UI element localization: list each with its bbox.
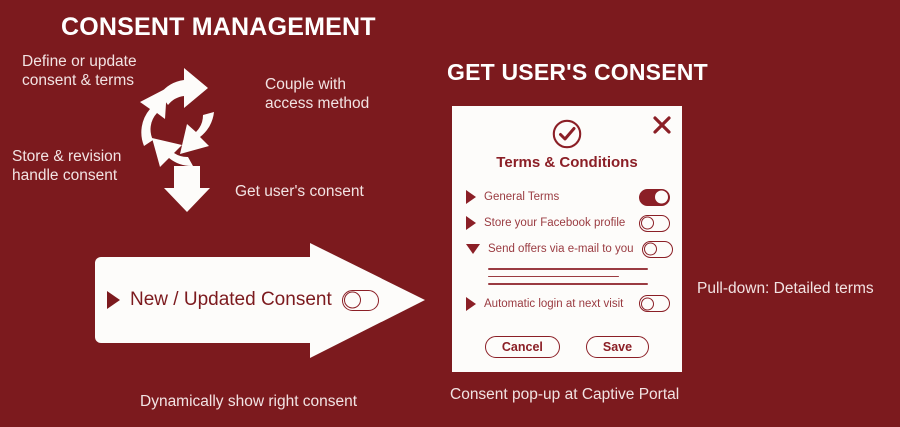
caption-consent-popup-captive-portal: Consent pop-up at Captive Portal — [450, 385, 679, 404]
toggle-knob — [644, 243, 657, 256]
close-icon[interactable] — [653, 116, 671, 134]
terms-item-label: Store your Facebook profile — [484, 217, 631, 229]
triangle-down-icon[interactable] — [466, 244, 480, 254]
terms-item-automatic-login[interactable]: Automatic login at next visit — [466, 291, 670, 317]
triangle-right-icon[interactable] — [466, 190, 476, 204]
annotation-pulldown-detailed-terms: Pull-down: Detailed terms — [697, 279, 874, 298]
terms-item-label: Automatic login at next visit — [484, 298, 631, 310]
close-glyph — [653, 116, 671, 134]
page-title-consent-management: CONSENT MANAGEMENT — [61, 13, 376, 42]
banner-content: New / Updated Consent — [95, 257, 395, 343]
triangle-right-icon[interactable] — [466, 216, 476, 230]
terms-item-toggle[interactable] — [639, 189, 670, 206]
terms-item-label: General Terms — [484, 191, 631, 203]
check-circle-glyph — [551, 118, 583, 150]
new-updated-consent-banner[interactable]: New / Updated Consent — [95, 243, 425, 358]
cycle-label-store: Store & revision handle consent — [12, 147, 121, 185]
banner-consent-toggle[interactable] — [342, 290, 379, 311]
banner-label: New / Updated Consent — [130, 289, 332, 311]
check-circle-icon — [551, 118, 583, 150]
detailed-terms-placeholder-lines — [488, 268, 670, 285]
terms-item-store-facebook-profile[interactable]: Store your Facebook profile — [466, 210, 670, 236]
placeholder-line — [488, 283, 648, 285]
terms-item-send-offers-email[interactable]: Send offers via e-mail to you — [466, 236, 670, 262]
save-button[interactable]: Save — [586, 336, 649, 358]
cycle-label-couple: Couple with access method — [265, 75, 369, 113]
terms-item-general-terms[interactable]: General Terms — [466, 184, 670, 210]
dialog-actions: Cancel Save — [452, 336, 682, 358]
placeholder-line — [488, 276, 619, 278]
toggle-knob — [641, 297, 654, 310]
caption-dynamically-show-right-consent: Dynamically show right consent — [140, 392, 357, 411]
cycle-arrows-icon — [130, 62, 240, 212]
placeholder-line — [488, 268, 648, 270]
cancel-button[interactable]: Cancel — [485, 336, 560, 358]
page-title-get-user-consent: GET USER'S CONSENT — [447, 59, 708, 86]
toggle-knob — [655, 191, 668, 204]
consent-popup-dialog: Terms & Conditions General Terms Store y… — [452, 106, 682, 372]
dialog-title: Terms & Conditions — [452, 154, 682, 171]
cycle-label-get-user-consent: Get user's consent — [235, 182, 364, 201]
terms-item-toggle[interactable] — [642, 241, 673, 258]
terms-list: General Terms Store your Facebook profil… — [466, 184, 670, 317]
toggle-knob — [344, 292, 361, 309]
terms-item-toggle[interactable] — [639, 215, 670, 232]
terms-item-label: Send offers via e-mail to you — [488, 243, 634, 255]
triangle-right-icon[interactable] — [466, 297, 476, 311]
infographic-stage: CONSENT MANAGEMENT GET USER'S CONSENT De… — [0, 0, 900, 427]
cycle-label-define: Define or update consent & terms — [22, 52, 137, 90]
triangle-right-icon[interactable] — [107, 291, 120, 309]
terms-item-toggle[interactable] — [639, 295, 670, 312]
toggle-knob — [641, 217, 654, 230]
cycle-diagram — [130, 62, 240, 212]
